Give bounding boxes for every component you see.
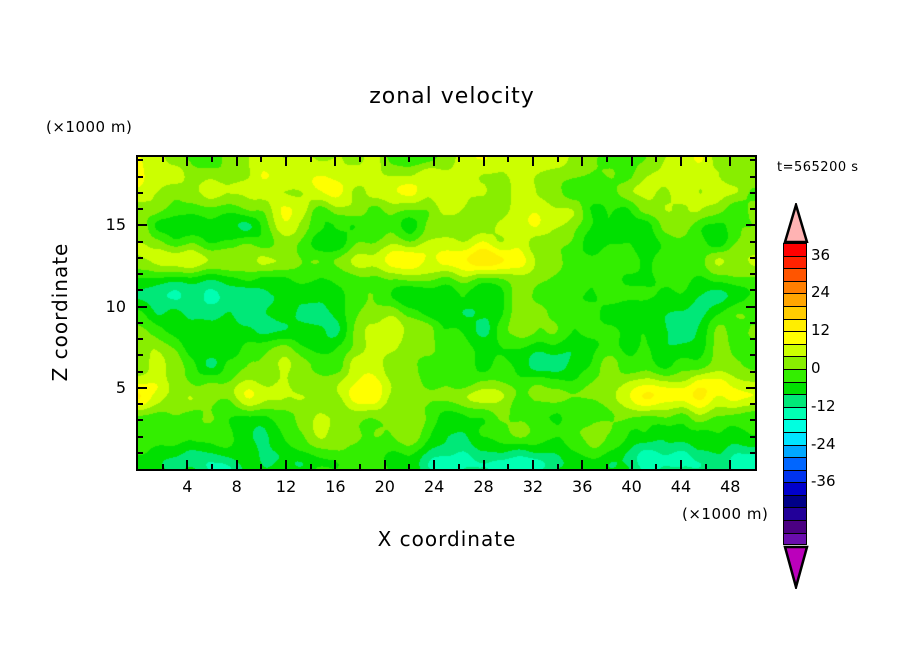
x-axis-tick-top bbox=[458, 157, 460, 162]
x-axis-tick bbox=[606, 464, 608, 469]
colorbar-tick-label: -24 bbox=[811, 435, 836, 453]
x-axis-tick-top bbox=[680, 157, 682, 166]
x-axis-tick-top bbox=[359, 157, 361, 162]
x-axis-tick-top bbox=[729, 157, 731, 166]
y-axis-tick-right bbox=[750, 436, 755, 438]
x-axis-tick bbox=[162, 464, 164, 469]
colorbar-band bbox=[783, 369, 807, 382]
y-axis-tick bbox=[138, 306, 147, 308]
y-axis-tick bbox=[138, 322, 143, 324]
y-axis-tick-right bbox=[750, 371, 755, 373]
x-axis-unit-label: (×1000 m) bbox=[682, 505, 768, 523]
x-axis-tick-top bbox=[557, 157, 559, 162]
plot-area bbox=[136, 155, 757, 471]
x-tick-label: 44 bbox=[661, 477, 701, 496]
colorbar-band bbox=[783, 344, 807, 357]
colorbar-band bbox=[783, 495, 807, 508]
colorbar-band bbox=[783, 293, 807, 306]
y-axis-title: Z coordinate bbox=[48, 192, 72, 432]
x-axis-tick bbox=[581, 460, 583, 469]
x-axis-tick bbox=[334, 460, 336, 469]
x-tick-label: 20 bbox=[365, 477, 405, 496]
y-axis-tick bbox=[138, 338, 143, 340]
colorbar-band bbox=[783, 243, 807, 256]
x-axis-tick-top bbox=[162, 157, 164, 162]
y-axis-tick bbox=[138, 419, 143, 421]
colorbar-band bbox=[783, 281, 807, 294]
colorbar-tick-label: 36 bbox=[811, 246, 830, 264]
x-tick-label: 24 bbox=[414, 477, 454, 496]
x-tick-label: 4 bbox=[167, 477, 207, 496]
x-axis-tick-top bbox=[655, 157, 657, 162]
x-axis-tick bbox=[458, 464, 460, 469]
x-tick-label: 32 bbox=[513, 477, 553, 496]
colorbar-over-arrow bbox=[775, 203, 817, 243]
y-axis-tick-right bbox=[750, 257, 755, 259]
y-axis-unit-label: (×1000 m) bbox=[46, 118, 132, 136]
y-axis-tick bbox=[138, 289, 143, 291]
x-axis-tick-top bbox=[186, 157, 188, 166]
y-axis-tick-right bbox=[750, 354, 755, 356]
x-axis-tick bbox=[655, 464, 657, 469]
x-axis-tick-top bbox=[334, 157, 336, 166]
x-axis-tick bbox=[236, 460, 238, 469]
x-axis-tick-top bbox=[310, 157, 312, 162]
y-axis-tick-right bbox=[750, 452, 755, 454]
x-axis-tick bbox=[433, 460, 435, 469]
y-axis-tick-right bbox=[750, 338, 755, 340]
page-title: zonal velocity bbox=[0, 84, 904, 109]
x-axis-tick-top bbox=[705, 157, 707, 162]
x-axis-tick bbox=[631, 460, 633, 469]
x-axis-tick-top bbox=[236, 157, 238, 166]
colorbar-tick-label: 12 bbox=[811, 321, 830, 339]
x-axis-tick bbox=[211, 464, 213, 469]
x-axis-tick bbox=[557, 464, 559, 469]
y-axis-tick bbox=[138, 387, 147, 389]
y-axis-tick bbox=[138, 371, 143, 373]
colorbar-band bbox=[783, 445, 807, 458]
colorbar-band bbox=[783, 533, 807, 546]
y-axis-tick bbox=[138, 452, 143, 454]
colorbar-band bbox=[783, 470, 807, 483]
colorbar-band bbox=[783, 507, 807, 520]
colorbar-tick-label: 24 bbox=[811, 283, 830, 301]
x-axis-tick bbox=[186, 460, 188, 469]
colorbar-tick-label: -12 bbox=[811, 397, 836, 415]
y-axis-tick-right bbox=[750, 403, 755, 405]
y-axis-tick-right bbox=[750, 159, 755, 161]
x-tick-label: 16 bbox=[315, 477, 355, 496]
colorbar-band bbox=[783, 407, 807, 420]
y-tick-label: 10 bbox=[86, 297, 126, 316]
colorbar-tick-label: 0 bbox=[811, 359, 821, 377]
x-axis-tick bbox=[532, 460, 534, 469]
y-axis-tick bbox=[138, 176, 143, 178]
y-axis-tick bbox=[138, 273, 143, 275]
x-axis-tick-top bbox=[507, 157, 509, 162]
x-axis-tick-top bbox=[211, 157, 213, 162]
y-axis-tick bbox=[138, 159, 143, 161]
y-axis-tick-right bbox=[750, 322, 755, 324]
y-axis-tick-right bbox=[750, 289, 755, 291]
y-tick-label: 15 bbox=[86, 215, 126, 234]
contour-field bbox=[138, 157, 755, 469]
colorbar: 3624120-12-24-36 bbox=[775, 203, 817, 528]
x-axis-tick-top bbox=[483, 157, 485, 166]
x-axis-tick-top bbox=[408, 157, 410, 162]
x-axis-tick-top bbox=[285, 157, 287, 166]
x-axis-tick bbox=[285, 460, 287, 469]
x-axis-tick bbox=[384, 460, 386, 469]
colorbar-band bbox=[783, 382, 807, 395]
y-axis-tick bbox=[138, 208, 143, 210]
x-axis-tick-top bbox=[384, 157, 386, 166]
x-axis-tick bbox=[705, 464, 707, 469]
colorbar-band bbox=[783, 256, 807, 269]
x-tick-label: 8 bbox=[217, 477, 257, 496]
x-tick-label: 48 bbox=[710, 477, 750, 496]
y-axis-tick-right bbox=[746, 306, 755, 308]
x-tick-label: 36 bbox=[562, 477, 602, 496]
colorbar-band bbox=[783, 394, 807, 407]
x-axis-tick bbox=[359, 464, 361, 469]
colorbar-band bbox=[783, 319, 807, 332]
y-axis-tick bbox=[138, 354, 143, 356]
y-axis-tick bbox=[138, 224, 147, 226]
y-axis-tick-right bbox=[750, 192, 755, 194]
y-axis-tick-right bbox=[750, 176, 755, 178]
y-axis-tick-right bbox=[750, 419, 755, 421]
colorbar-band bbox=[783, 331, 807, 344]
colorbar-under-arrow bbox=[775, 545, 817, 589]
x-axis-tick bbox=[507, 464, 509, 469]
x-axis-tick-top bbox=[581, 157, 583, 166]
y-axis-tick-right bbox=[750, 241, 755, 243]
colorbar-band bbox=[783, 457, 807, 470]
y-axis-tick-right bbox=[746, 387, 755, 389]
x-axis-title: X coordinate bbox=[136, 527, 758, 551]
colorbar-tick-label: -36 bbox=[811, 472, 836, 490]
x-axis-tick-top bbox=[260, 157, 262, 162]
y-axis-tick-right bbox=[750, 208, 755, 210]
y-axis-tick bbox=[138, 403, 143, 405]
colorbar-band bbox=[783, 356, 807, 369]
colorbar-band bbox=[783, 482, 807, 495]
colorbar-band bbox=[783, 520, 807, 533]
colorbar-bands bbox=[783, 243, 807, 545]
x-axis-tick-top bbox=[606, 157, 608, 162]
x-axis-tick bbox=[408, 464, 410, 469]
x-axis-tick-top bbox=[532, 157, 534, 166]
y-axis-tick-right bbox=[746, 224, 755, 226]
x-tick-label: 12 bbox=[266, 477, 306, 496]
x-axis-tick bbox=[310, 464, 312, 469]
x-tick-label: 40 bbox=[612, 477, 652, 496]
colorbar-band bbox=[783, 306, 807, 319]
colorbar-band bbox=[783, 419, 807, 432]
y-axis-tick bbox=[138, 241, 143, 243]
colorbar-band bbox=[783, 432, 807, 445]
y-axis-tick bbox=[138, 192, 143, 194]
y-axis-tick bbox=[138, 257, 143, 259]
x-axis-tick bbox=[483, 460, 485, 469]
x-axis-tick bbox=[260, 464, 262, 469]
x-axis-tick bbox=[680, 460, 682, 469]
y-axis-tick-right bbox=[750, 273, 755, 275]
y-axis-tick bbox=[138, 436, 143, 438]
x-axis-tick-top bbox=[631, 157, 633, 166]
x-axis-tick bbox=[729, 460, 731, 469]
y-tick-label: 5 bbox=[86, 378, 126, 397]
contour-plot-figure: zonal velocity (×1000 m) (×1000 m) t=565… bbox=[0, 0, 904, 654]
colorbar-band bbox=[783, 268, 807, 281]
x-axis-tick-top bbox=[433, 157, 435, 166]
x-tick-label: 28 bbox=[464, 477, 504, 496]
time-annotation: t=565200 s bbox=[777, 160, 859, 175]
